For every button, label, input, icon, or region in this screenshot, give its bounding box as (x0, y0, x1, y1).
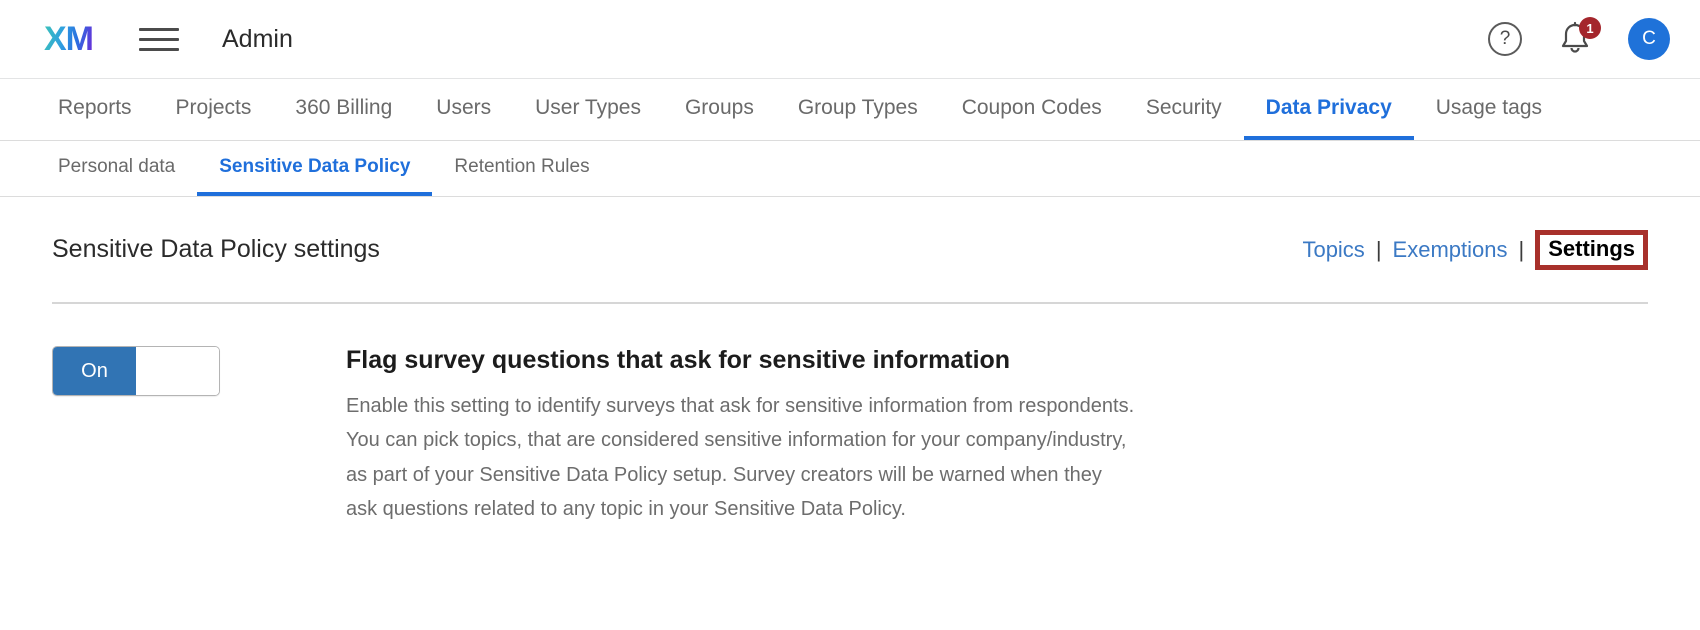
nav-item-groups[interactable]: Groups (663, 79, 776, 140)
tab-sensitive-data-policy[interactable]: Sensitive Data Policy (197, 141, 432, 196)
section-title: Sensitive Data Policy settings (52, 235, 380, 264)
link-separator: | (1376, 237, 1382, 263)
nav-item-projects[interactable]: Projects (154, 79, 274, 140)
tab-retention-rules[interactable]: Retention Rules (432, 141, 611, 196)
avatar[interactable]: C (1628, 18, 1670, 60)
secondary-navigation: Personal data Sensitive Data Policy Rete… (0, 141, 1700, 197)
setting-text-block: Flag survey questions that ask for sensi… (346, 346, 1136, 527)
main-content: Sensitive Data Policy settings Topics | … (0, 197, 1700, 527)
hamburger-line (139, 38, 179, 41)
topbar-actions: ? 1 C (1488, 18, 1670, 60)
nav-item-coupon-codes[interactable]: Coupon Codes (940, 79, 1124, 140)
setting-row: On Flag survey questions that ask for se… (52, 304, 1648, 527)
tab-personal-data[interactable]: Personal data (36, 141, 197, 196)
hamburger-line (139, 48, 179, 51)
link-topics[interactable]: Topics (1302, 237, 1364, 263)
nav-item-group-types[interactable]: Group Types (776, 79, 940, 140)
setting-title: Flag survey questions that ask for sensi… (346, 346, 1136, 375)
nav-item-usage-tags[interactable]: Usage tags (1414, 79, 1564, 140)
flag-sensitive-questions-toggle[interactable]: On (52, 346, 220, 396)
section-links: Topics | Exemptions | Settings (1302, 230, 1648, 270)
page-title: Admin (222, 25, 293, 54)
link-exemptions[interactable]: Exemptions (1393, 237, 1508, 263)
nav-item-360-billing[interactable]: 360 Billing (273, 79, 414, 140)
nav-item-reports[interactable]: Reports (36, 79, 154, 140)
section-header: Sensitive Data Policy settings Topics | … (52, 197, 1648, 302)
toggle-off-track (136, 347, 219, 395)
toggle-on-label: On (53, 347, 136, 395)
link-separator: | (1518, 237, 1524, 263)
nav-item-user-types[interactable]: User Types (513, 79, 663, 140)
hamburger-line (139, 28, 179, 31)
nav-item-users[interactable]: Users (414, 79, 513, 140)
notification-badge: 1 (1579, 17, 1601, 39)
help-glyph: ? (1500, 28, 1511, 50)
primary-navigation: Reports Projects 360 Billing Users User … (0, 79, 1700, 141)
nav-item-data-privacy[interactable]: Data Privacy (1244, 79, 1414, 140)
nav-item-security[interactable]: Security (1124, 79, 1244, 140)
xm-logo[interactable]: XM (44, 22, 93, 56)
top-bar: XM Admin ? 1 C (0, 0, 1700, 79)
help-icon[interactable]: ? (1488, 22, 1522, 56)
setting-description: Enable this setting to identify surveys … (346, 389, 1136, 527)
notifications-bell-icon[interactable]: 1 (1558, 21, 1592, 57)
hamburger-menu-icon[interactable] (139, 24, 179, 54)
link-settings[interactable]: Settings (1535, 230, 1648, 270)
